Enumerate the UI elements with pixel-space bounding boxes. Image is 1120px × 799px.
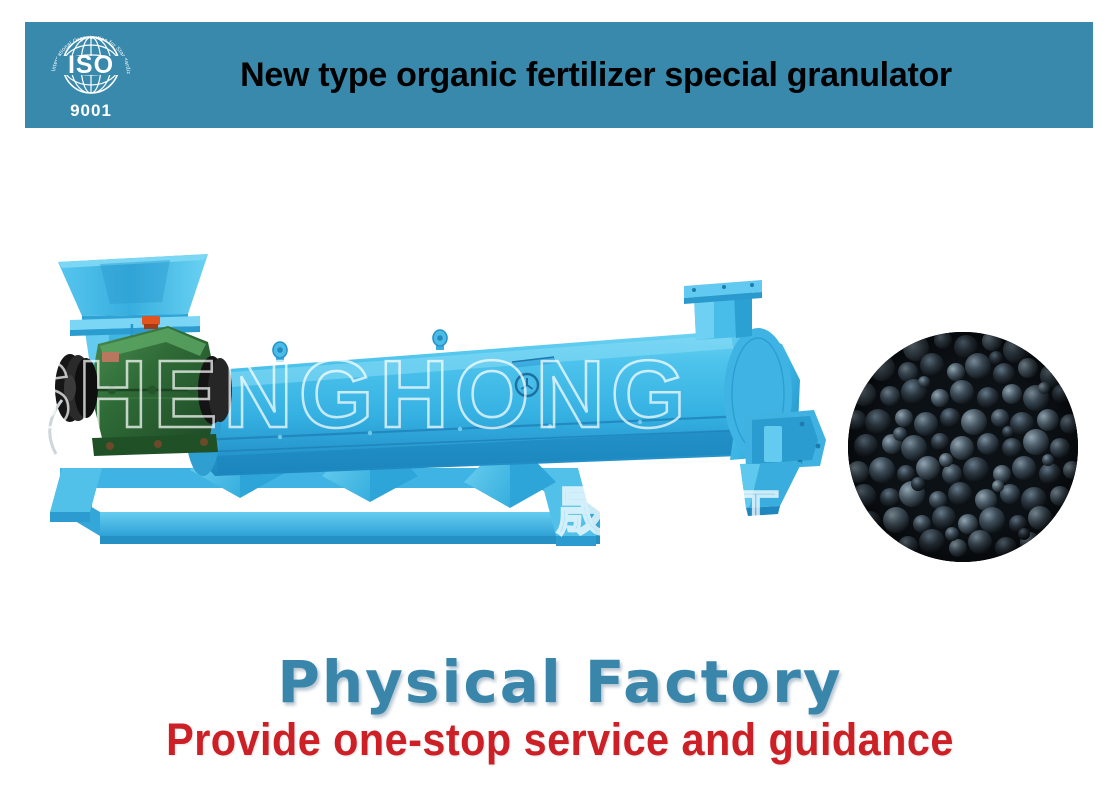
granule-sample-svg	[848, 332, 1078, 562]
breather-cap	[142, 316, 160, 325]
headline-physical-factory: Physical Factory	[0, 648, 1120, 716]
discharge-chute	[740, 410, 826, 516]
iso-badge-svg: International Organization for Standardi…	[43, 27, 139, 123]
machine-svg	[40, 240, 840, 600]
vent-pipe	[684, 280, 762, 340]
headline-service-guidance: Provide one-stop service and guidance	[45, 714, 1075, 766]
iso-standard-number-text: 9001	[70, 101, 112, 120]
iso-9001-logo: International Organization for Standardi…	[43, 27, 139, 123]
top-banner: International Organization for Standardi…	[25, 22, 1093, 128]
product-machine-image	[40, 240, 840, 600]
iso-acronym-text: ISO	[68, 51, 114, 79]
granule-sample-photo	[848, 332, 1078, 562]
banner-title: New type organic fertilizer special gran…	[139, 56, 1093, 95]
